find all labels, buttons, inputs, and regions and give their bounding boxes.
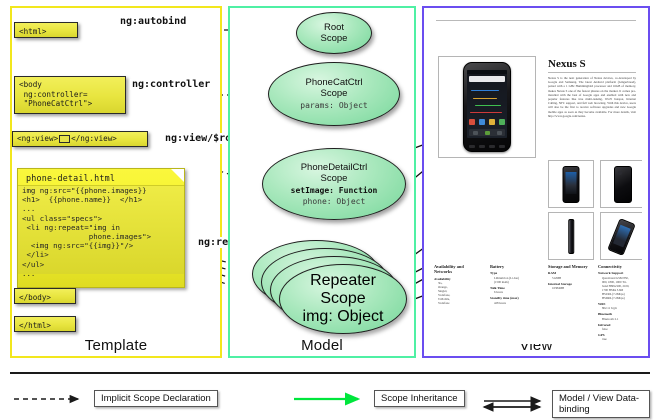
phone-app-dock <box>467 117 507 127</box>
diagram-canvas: Template <html> <body ng:controller= "Ph… <box>0 0 660 420</box>
label-ng-controller: ng:controller <box>130 79 212 90</box>
spec-value: true <box>598 337 642 341</box>
thumbnail-back[interactable] <box>600 160 642 208</box>
scope-repeater-line1: Repeater <box>310 272 376 290</box>
spec-col-storage: Storage and Memory RAM 512MB Internal St… <box>548 264 596 290</box>
phone-device-graphic <box>463 62 511 152</box>
spec-heading: Availability and Networks <box>434 264 482 275</box>
spec-value: 16384MB <box>548 286 596 290</box>
scope-detail-prop-phone: phone: Object <box>303 197 366 207</box>
thumbnail-front[interactable] <box>548 160 594 208</box>
code-body-close[interactable]: </body> <box>14 288 76 304</box>
legend-divider <box>10 372 650 374</box>
spec-value: Lithium Ion (Li-Ion)(1500 mAh) <box>490 276 542 284</box>
code-html-open[interactable]: <html> <box>14 22 78 38</box>
label-ng-autobind: ng:autobind <box>118 16 188 27</box>
template-panel-label: Template <box>12 337 220 354</box>
note-code: img ng:src="{{phone.images}} <h1> {{phon… <box>18 185 184 274</box>
scope-cat-prop-params: params: Object <box>300 101 367 111</box>
scope-phonecatctrl[interactable]: PhoneCatCtrl Scope params: Object <box>268 62 400 126</box>
spec-heading: Connectivity <box>598 264 642 269</box>
ngview-close-tag: </ng:view> <box>71 134 117 144</box>
spec-col-availability: Availability and Networks Availability 3… <box>434 264 482 305</box>
note-title: phone-detail.html <box>18 169 184 185</box>
view-phone-title: Nexus S <box>548 58 586 70</box>
spec-col-battery: Battery Type Lithium Ion (Li-Ion)(1500 m… <box>490 264 542 305</box>
legend-label-data-binding: Model / View Data-binding <box>552 390 650 418</box>
legend-item-implicit-scope: Implicit Scope Declaration <box>12 390 218 407</box>
phone-detail-note[interactable]: phone-detail.html img ng:src="{{phone.im… <box>17 168 185 288</box>
spec-value: Bluetooth 2.1 <box>598 317 642 321</box>
page-top-rule <box>436 20 636 21</box>
rendered-view-page: Nexus S Nexus S is the next generation o… <box>430 14 642 344</box>
legend-item-scope-inheritance: Scope Inheritance <box>292 390 465 407</box>
spec-value: 512MB <box>548 276 596 280</box>
phone-wallpaper <box>467 82 507 116</box>
legend-item-data-binding: Model / View Data-binding <box>482 390 650 418</box>
scope-detail-prop-setimage: setImage: Function <box>291 186 378 196</box>
double-arrow-icon <box>482 396 548 412</box>
scope-root-line2: Scope <box>321 33 348 44</box>
model-panel-label: Model <box>230 337 414 354</box>
note-fold-corner <box>171 169 184 182</box>
spec-value: 802.11 b/g/n <box>598 306 642 310</box>
ngview-placeholder-icon <box>59 135 70 143</box>
view-title-rule <box>548 72 636 73</box>
phone-bottom-bar <box>469 129 505 136</box>
dashed-arrow-icon <box>12 391 90 407</box>
code-body-open[interactable]: <body ng:controller= "PhoneCatCtrl"> <box>14 76 126 114</box>
legend-label-scope-inheritance: Scope Inheritance <box>374 390 465 407</box>
scope-cat-line1: PhoneCatCtrl <box>305 77 362 88</box>
phone-statusbar <box>467 70 507 74</box>
spec-heading: Storage and Memory <box>548 264 596 269</box>
scope-repeater[interactable]: Repeater Scope img: Object <box>279 264 407 334</box>
scope-root-line1: Root <box>324 22 344 33</box>
phone-screen <box>467 70 507 138</box>
scope-cat-line2: Scope <box>321 88 348 99</box>
view-phone-description: Nexus S is the next generation of Nexus … <box>548 76 636 118</box>
legend: Implicit Scope Declaration Scope Inherit… <box>10 372 650 374</box>
scope-phonedetailctrl[interactable]: PhoneDetailCtrl Scope setImage: Function… <box>262 148 406 220</box>
scope-root[interactable]: Root Scope <box>296 12 372 54</box>
scope-repeater-prop-img: img: Object <box>303 308 384 326</box>
code-html-close[interactable]: </html> <box>14 316 76 332</box>
thumbnail-edge[interactable] <box>548 212 594 260</box>
legend-label-implicit-scope: Implicit Scope Declaration <box>94 390 218 407</box>
scope-detail-line1: PhoneDetailCtrl <box>301 162 368 173</box>
spec-col-connectivity: Connectivity Network Support Quad-band G… <box>598 264 642 341</box>
spec-heading: Battery <box>490 264 542 269</box>
spec-value: 428 hours <box>490 301 542 305</box>
scope-detail-line2: Scope <box>321 173 348 184</box>
spec-value: Quad-band GSM 850,900, 1800, 1900 Tri-ba… <box>598 276 642 300</box>
scope-repeater-line2: Scope <box>320 290 365 308</box>
spec-value: Orange,Singtel,Vodafone,T-Mobile,Vodafon… <box>434 285 482 305</box>
ngview-open-tag: <ng:view> <box>17 134 58 144</box>
code-ngview[interactable]: <ng:view> </ng:view> <box>12 131 148 147</box>
spec-value: false <box>598 327 642 331</box>
phone-main-image[interactable] <box>438 56 536 158</box>
thumbnail-angled[interactable] <box>600 212 642 260</box>
green-arrow-icon <box>292 391 370 407</box>
phone-hardware-buttons <box>469 145 505 149</box>
spec-value: 6 hours <box>490 290 542 294</box>
